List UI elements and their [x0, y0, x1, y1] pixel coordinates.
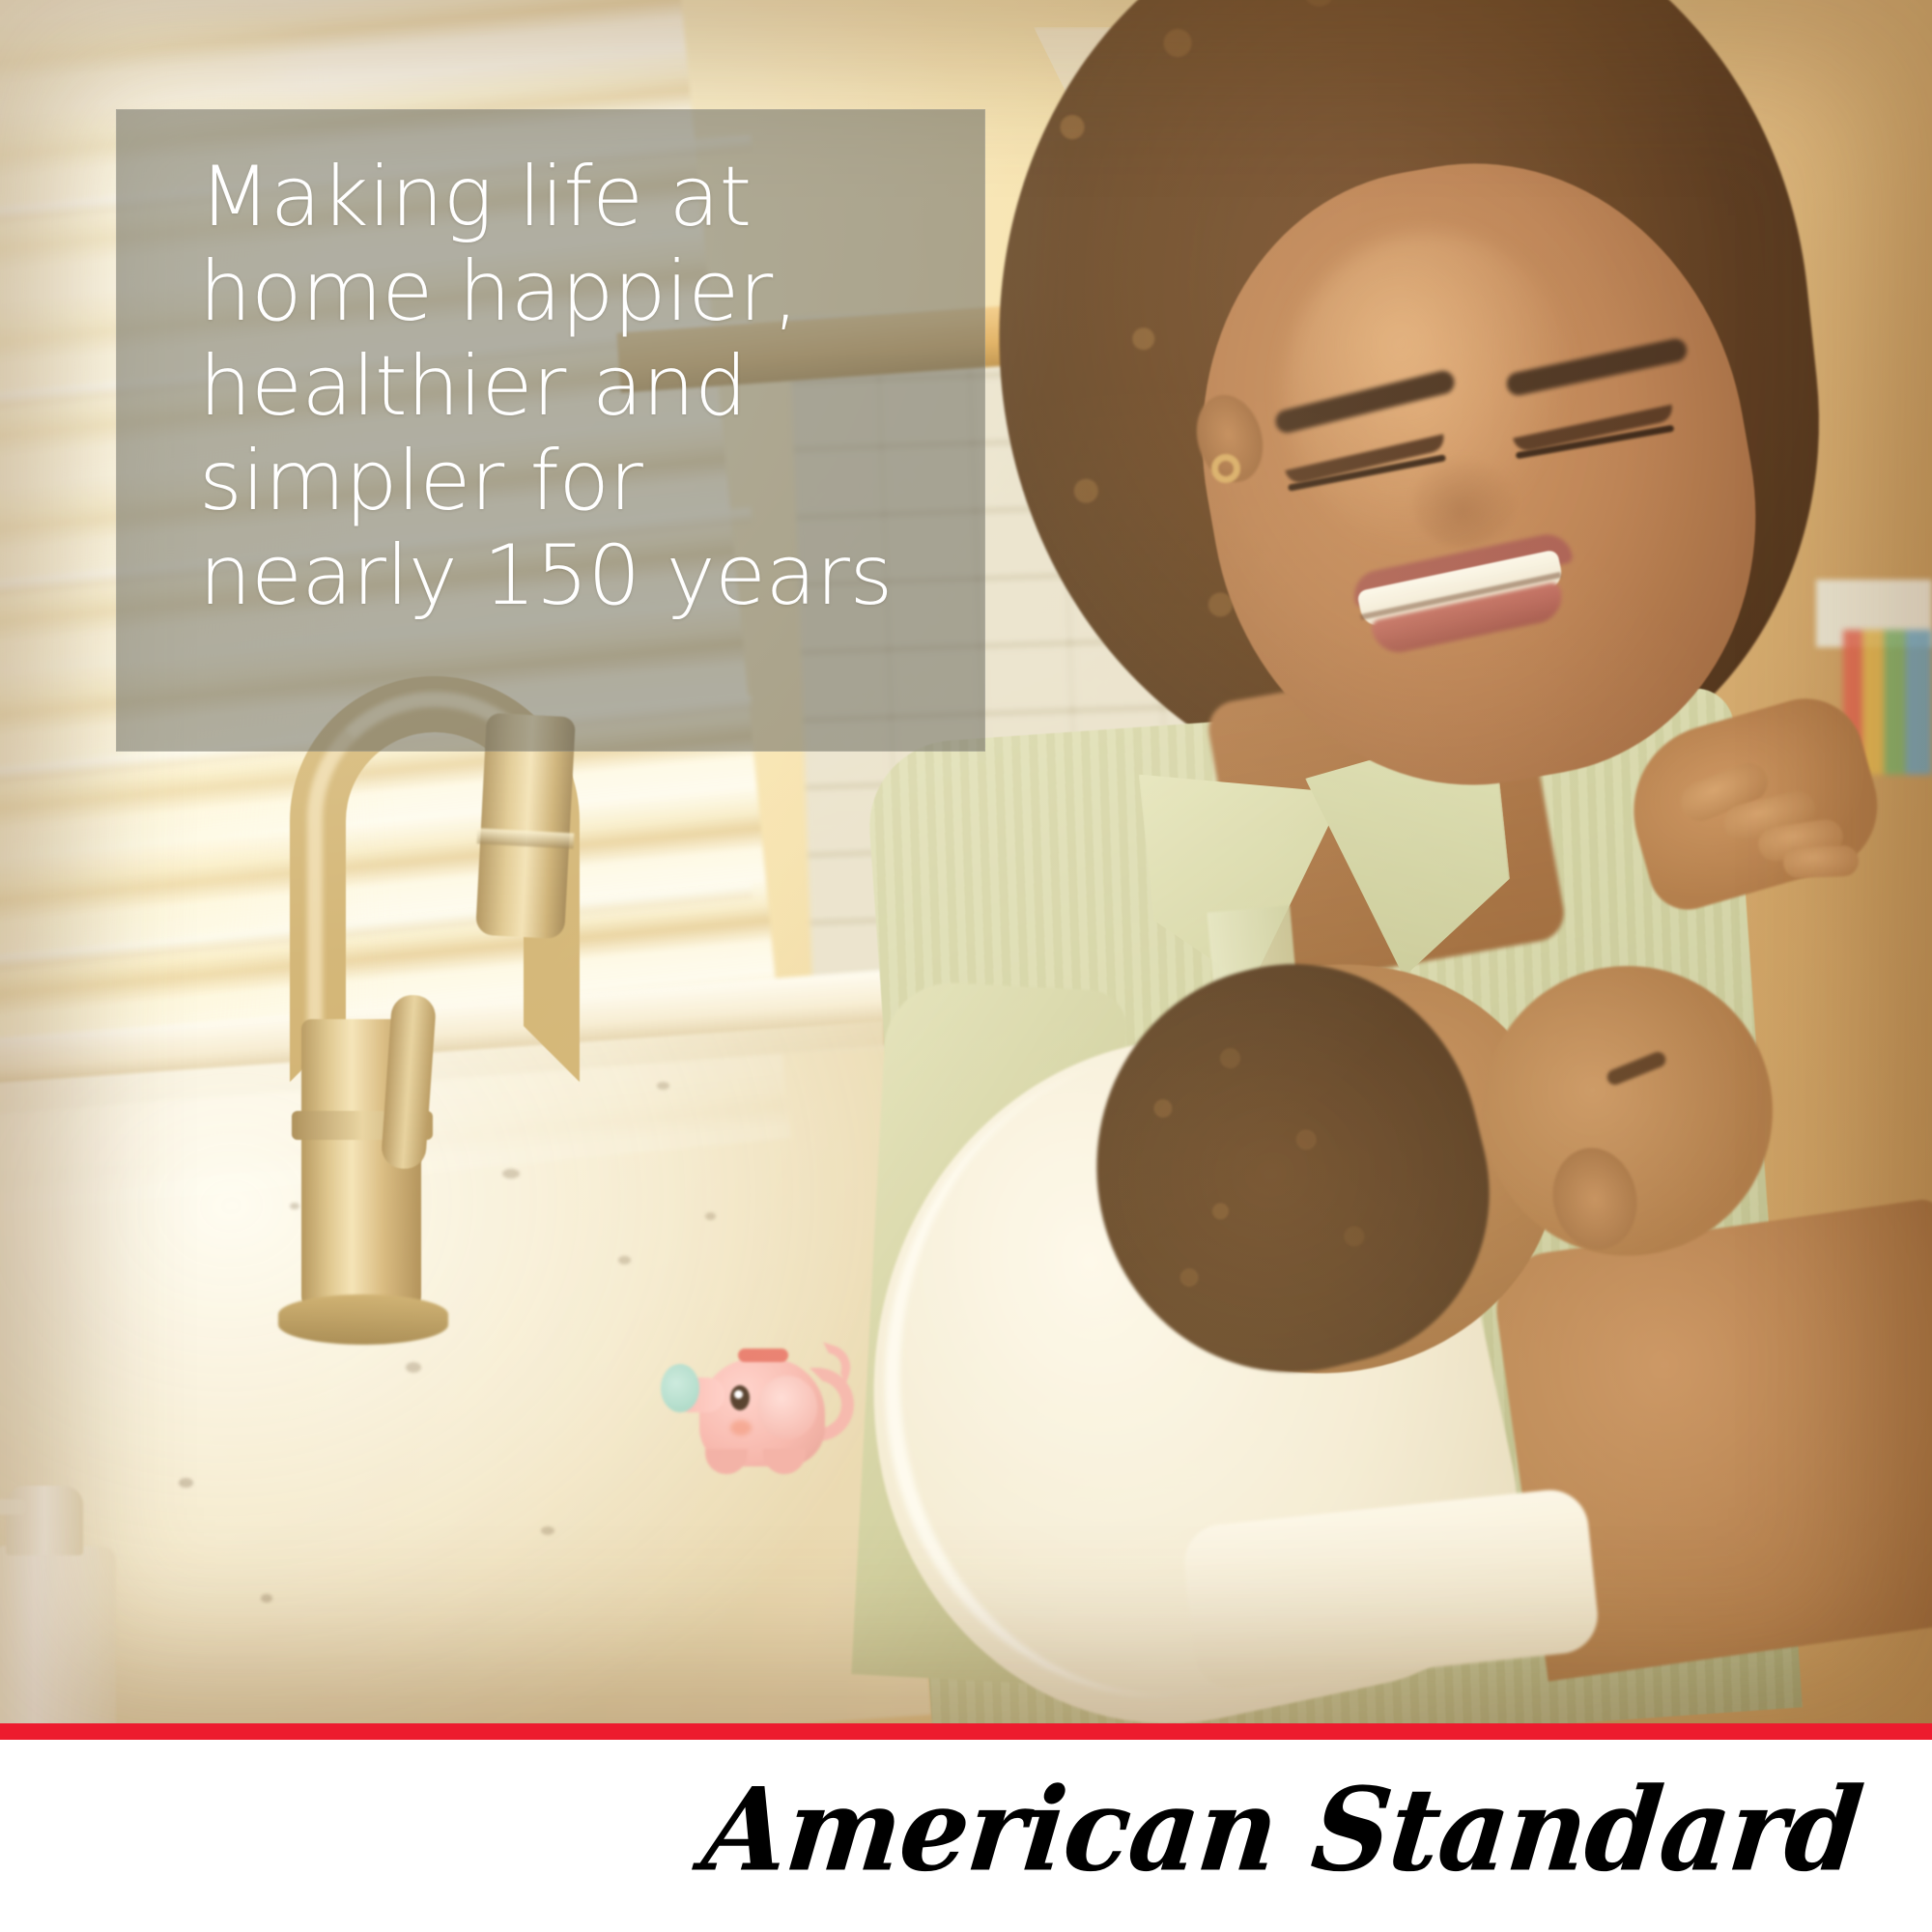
elephant-toy-ear — [757, 1376, 817, 1439]
advertisement-canvas: Making life at home happier, healthier a… — [0, 0, 1932, 1932]
faucet-base — [278, 1294, 448, 1345]
woman-earring — [1211, 454, 1240, 483]
marble-speckle — [618, 1256, 631, 1264]
marble-speckle — [406, 1362, 421, 1373]
hero-photograph: Making life at home happier, healthier a… — [0, 0, 1932, 1723]
marble-speckle — [179, 1478, 193, 1488]
american-standard-logo: American Standard — [696, 1763, 1867, 1897]
headline-overlay-panel: Making life at home happier, healthier a… — [116, 109, 985, 752]
elephant-toy-cheek — [730, 1420, 752, 1435]
elephant-toy-foot — [705, 1449, 748, 1474]
soap-dispenser-pump — [6, 1486, 83, 1555]
baby-hand — [1671, 763, 1874, 879]
marble-speckle — [541, 1526, 554, 1535]
marble-speckle — [705, 1212, 716, 1220]
marble-speckle — [261, 1594, 272, 1603]
headline-text: Making life at home happier, healthier a… — [199, 150, 976, 623]
elephant-toy-fill-cap — [738, 1349, 788, 1362]
elephant-toy-eye — [730, 1385, 750, 1410]
soap-dispenser-bottle — [0, 1546, 116, 1723]
marble-speckle — [502, 1169, 520, 1179]
marble-speckle — [657, 1082, 669, 1090]
elephant-toy — [667, 1343, 860, 1478]
elephant-toy-spout — [661, 1364, 699, 1412]
footer-bar: American Standard — [0, 1740, 1932, 1932]
elephant-toy-foot — [763, 1449, 806, 1474]
brand-red-rule — [0, 1723, 1932, 1740]
baby-finger — [1782, 845, 1859, 879]
soap-dispenser-nozzle — [0, 1499, 27, 1515]
marble-speckle — [290, 1203, 299, 1209]
